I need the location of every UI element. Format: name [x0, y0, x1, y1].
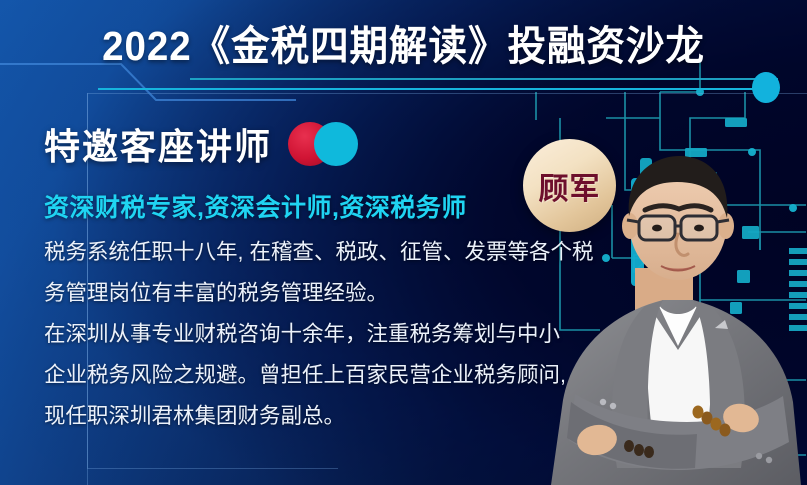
bio-line: 务管理岗位有丰富的税务管理经验。 — [44, 273, 574, 314]
bio-line: 企业税务风险之规避。曾担任上百家民营企业税务顾问, — [44, 355, 574, 396]
bio-line: 税务系统任职十八年, 在稽查、税政、征管、发票等各个税 — [44, 232, 574, 273]
dual-circle-decoration — [288, 122, 366, 166]
speaker-credentials: 资深财税专家,资深会计师,资深税务师 — [44, 188, 467, 224]
event-poster: 2022《金税四期解读》投融资沙龙 特邀客座讲师 资深财税专家,资深会计师,资深… — [0, 0, 807, 485]
bio-line: 现任职深圳君林集团财务副总。 — [44, 396, 574, 437]
accent-dot-icon — [752, 72, 780, 103]
divider-line-upper — [190, 78, 778, 80]
bio-line: 在深圳从事专业财税咨询十余年，注重税务筹划与中小 — [44, 314, 574, 355]
speaker-portrait-photo — [545, 150, 807, 485]
speaker-heading: 特邀客座讲师 — [44, 118, 272, 170]
cyan-circle-icon — [314, 122, 358, 166]
divider-line-lower — [98, 88, 770, 90]
speaker-heading-row: 特邀客座讲师 — [44, 118, 366, 170]
page-title: 2022《金税四期解读》投融资沙龙 — [24, 12, 783, 72]
speaker-biography: 税务系统任职十八年, 在稽查、税政、征管、发票等各个税 务管理岗位有丰富的税务管… — [44, 232, 574, 437]
